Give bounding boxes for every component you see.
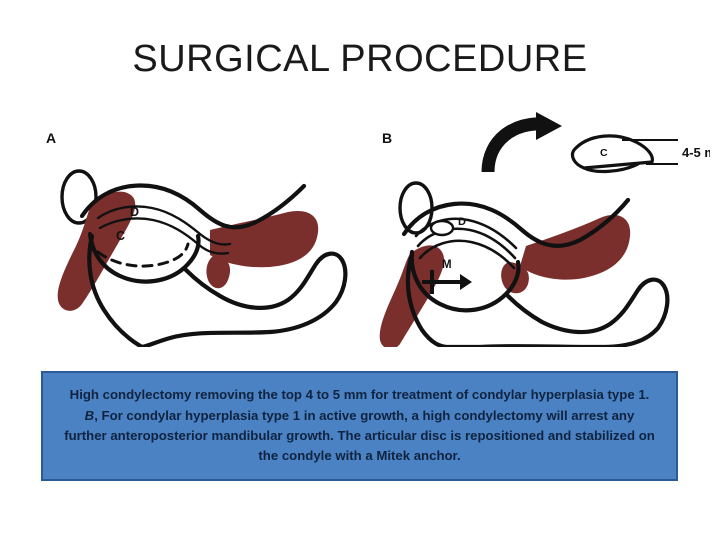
mandible-body-outline — [446, 346, 600, 347]
panel-b-diagram: C 4-5 mm — [360, 112, 710, 347]
caption-panel-ref: B — [85, 408, 95, 423]
mandible-body-outline — [142, 332, 270, 347]
measurement-label: 4-5 mm — [682, 145, 710, 160]
panel-a-diagram: D C — [20, 112, 370, 347]
fragment-c-label: C — [600, 147, 608, 159]
mandible-inferior-outline — [508, 280, 667, 347]
caption-line-2-pre: hyperplasia type 1. — [531, 387, 650, 402]
disc-attachment-nodule — [431, 221, 453, 235]
figure-illustration: A B D C — [0, 112, 720, 347]
posterior-muscle-mass — [520, 215, 630, 280]
resected-condyle-fragment: C — [572, 136, 652, 172]
slide-canvas: SURGICAL PROCEDURE A B — [0, 0, 720, 539]
panel-a-condyle-label: C — [116, 229, 125, 243]
figure-caption-box: High condylectomy removing the top 4 to … — [41, 371, 678, 481]
panel-b-disc-label: D — [458, 216, 466, 228]
caption-line-1: High condylectomy removing the top 4 to … — [70, 387, 527, 402]
caption-line-2-post: , For condylar hyperplasia type 1 in act… — [94, 408, 450, 423]
panel-b-mitek-label: M — [442, 259, 452, 271]
figure-caption-text: High condylectomy removing the top 4 to … — [60, 385, 660, 467]
panel-a-disc-label: D — [130, 205, 139, 219]
removal-curved-arrow — [488, 112, 562, 172]
page-title: SURGICAL PROCEDURE — [0, 38, 720, 81]
